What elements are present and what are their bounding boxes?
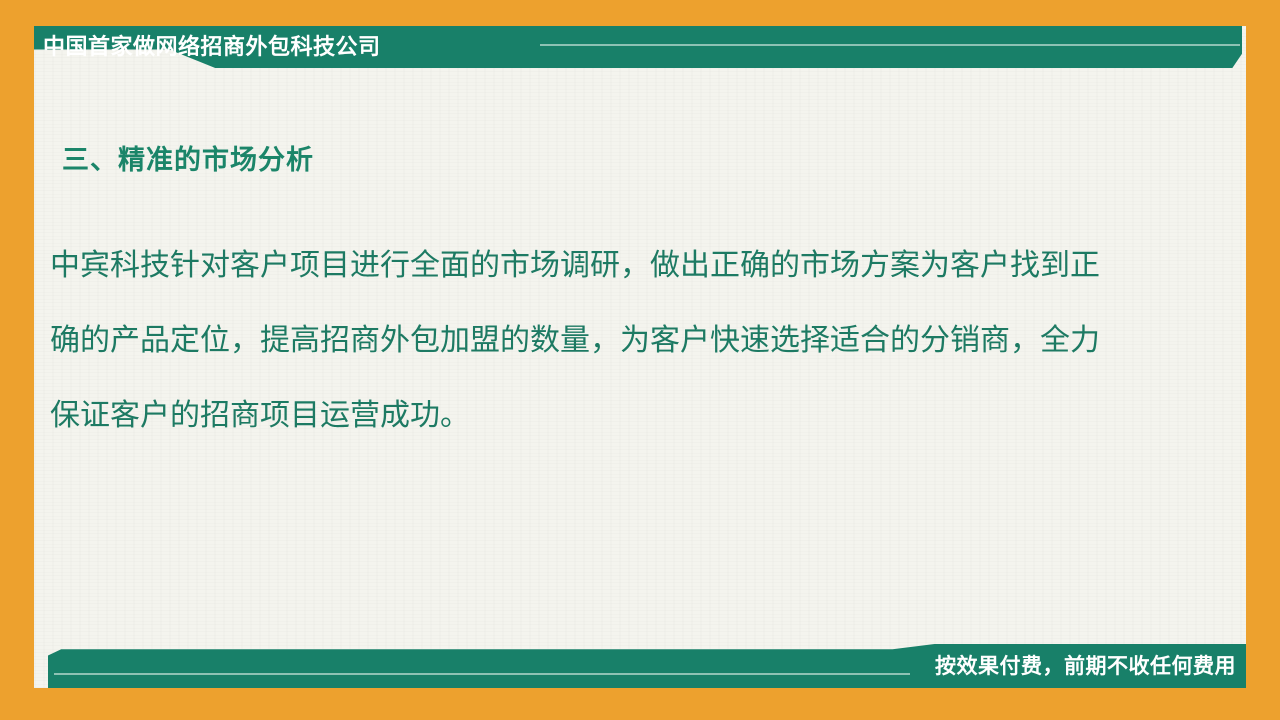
footer-divider-line: [54, 673, 910, 675]
body-paragraph: 中宾科技针对客户项目进行全面的市场调研，做出正确的市场方案为客户找到正 确的产品…: [50, 228, 1185, 453]
body-line: 中宾科技针对客户项目进行全面的市场调研，做出正确的市场方案为客户找到正: [50, 228, 1185, 303]
body-line: 保证客户的招商项目运营成功。: [50, 378, 1185, 453]
slide-root: 中国首家做网络招商外包科技公司 三、精准的市场分析 中宾科技针对客户项目进行全面…: [0, 0, 1280, 720]
body-line: 确的产品定位，提高招商外包加盟的数量，为客户快速选择适合的分销商，全力: [50, 303, 1185, 378]
footer-tagline: 按效果付费，前期不收任何费用: [935, 644, 1236, 688]
section-heading: 三、精准的市场分析: [62, 138, 314, 177]
header-divider-line: [540, 44, 1240, 46]
header-title: 中国首家做网络招商外包科技公司: [43, 26, 381, 68]
